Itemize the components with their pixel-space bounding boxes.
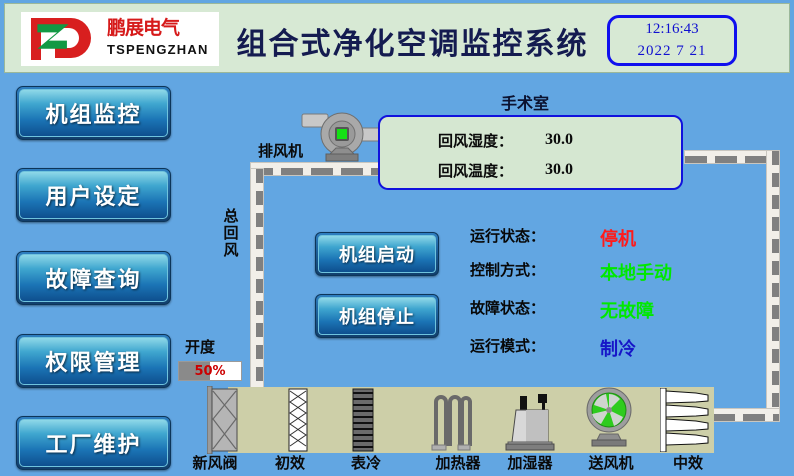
coil-icon	[352, 388, 374, 452]
cooling-coil[interactable]	[352, 388, 374, 452]
equipment-label-humidifier: 加湿器	[495, 452, 565, 473]
room-readout-panel: 回风湿度： 30.0 回风温度： 30.0	[378, 115, 683, 190]
status-row-run-state: 运行状态： 停机	[470, 225, 720, 251]
supply-fan-icon	[576, 386, 642, 448]
sidebar-item-label: 权限管理	[45, 345, 141, 377]
status-row-run-mode: 运行模式： 制冷	[470, 335, 720, 361]
logo-chinese-name: 鹏展电气	[107, 16, 217, 40]
primary-filter[interactable]	[288, 388, 308, 452]
sidebar-item-user-settings[interactable]: 用户设定	[16, 168, 171, 222]
status-row-fault-state: 故障状态： 无故障	[470, 297, 720, 323]
fault-state-value: 无故障	[600, 297, 654, 323]
equipment-label-primary-filter: 初效	[262, 452, 318, 473]
logo-english-name: TSPENGZHAN	[107, 42, 219, 57]
room-humidity-value: 30.0	[545, 131, 573, 149]
clock-panel: 12:16:43 2022 7 21	[607, 15, 737, 66]
damper-opening-label: 开度	[185, 336, 215, 357]
button-face: 权限管理	[19, 337, 168, 385]
room-temperature-label: 回风温度：	[438, 160, 513, 181]
room-temperature-value: 30.0	[545, 161, 573, 179]
status-row-control-mode: 控制方式： 本地手动	[470, 259, 720, 285]
sidebar-item-fault-query[interactable]: 故障查询	[16, 251, 171, 305]
clock-date: 2022 7 21	[610, 43, 734, 60]
sidebar-item-unit-monitor[interactable]: 机组监控	[16, 86, 171, 140]
unit-start-label: 机组启动	[339, 241, 415, 267]
run-state-value: 停机	[600, 225, 636, 251]
equipment-label-fresh-air-damper: 新风阀	[180, 452, 250, 473]
room-humidity-label: 回风湿度：	[438, 130, 513, 151]
company-logo: 鹏展电气 TSPENGZHAN	[21, 12, 219, 66]
hmi-screen: 鹏展电气 TSPENGZHAN 组合式净化空调监控系统 12:16:43 202…	[0, 0, 794, 476]
sidebar-item-factory-maintenance[interactable]: 工厂维护	[16, 416, 171, 470]
humidifier-icon	[498, 392, 560, 452]
control-mode-value: 本地手动	[600, 259, 672, 285]
equipment-label-heater: 加热器	[423, 452, 493, 473]
sidebar-item-label: 用户设定	[45, 179, 141, 211]
fault-state-label: 故障状态：	[470, 297, 545, 318]
exhaust-duct-horizontal	[250, 162, 382, 176]
humidifier[interactable]	[498, 392, 560, 452]
damper-opening-bar[interactable]: 50%	[178, 361, 242, 381]
filter-icon	[288, 388, 308, 452]
bag-filter-icon	[660, 388, 712, 452]
control-mode-label: 控制方式：	[470, 259, 545, 280]
button-face: 故障查询	[19, 254, 168, 302]
heater[interactable]	[428, 388, 472, 452]
equipment-label-supply-fan: 送风机	[576, 452, 646, 473]
unit-stop-button[interactable]: 机组停止	[315, 294, 439, 338]
header-bar: 鹏展电气 TSPENGZHAN 组合式净化空调监控系统 12:16:43 202…	[4, 3, 790, 73]
return-air-label: 总回风	[222, 208, 240, 259]
sidebar-item-label: 机组监控	[45, 97, 141, 129]
unit-start-button[interactable]: 机组启动	[315, 232, 439, 276]
run-state-label: 运行状态：	[470, 225, 545, 246]
room-row-temperature: 回风温度： 30.0	[380, 155, 681, 185]
equipment-label-medium-filter: 中效	[660, 452, 716, 473]
supply-fan[interactable]	[576, 386, 642, 448]
damper-opening-value: 50%	[179, 362, 241, 380]
button-face: 工厂维护	[19, 419, 168, 467]
sidebar-item-permission-management[interactable]: 权限管理	[16, 334, 171, 388]
room-title: 手术室	[465, 90, 585, 114]
equipment-label-cooling-coil: 表冷	[338, 452, 394, 473]
supply-duct-vertical	[766, 150, 780, 422]
run-mode-value: 制冷	[600, 335, 636, 361]
sidebar-item-label: 工厂维护	[45, 427, 141, 459]
clock-time: 12:16:43	[610, 21, 734, 38]
medium-filter[interactable]	[660, 388, 712, 452]
exhaust-fan-icon	[298, 108, 386, 164]
return-duct-vertical	[250, 168, 264, 390]
unit-stop-label: 机组停止	[339, 303, 415, 329]
damper-icon	[207, 386, 239, 454]
button-face: 机组监控	[19, 89, 168, 137]
button-face: 机组停止	[318, 297, 436, 335]
pz-logo-icon	[25, 14, 105, 64]
fresh-air-damper[interactable]	[207, 386, 239, 454]
room-row-humidity: 回风湿度： 30.0	[380, 125, 681, 155]
exhaust-fan[interactable]	[298, 108, 386, 164]
heater-icon	[428, 388, 472, 452]
exhaust-fan-label: 排风机	[258, 140, 303, 161]
button-face: 用户设定	[19, 171, 168, 219]
page-title: 组合式净化空调监控系统	[230, 19, 595, 63]
button-face: 机组启动	[318, 235, 436, 273]
supply-duct-return-elbow	[712, 408, 780, 422]
run-mode-label: 运行模式：	[470, 335, 545, 356]
sidebar-item-label: 故障查询	[45, 262, 141, 294]
